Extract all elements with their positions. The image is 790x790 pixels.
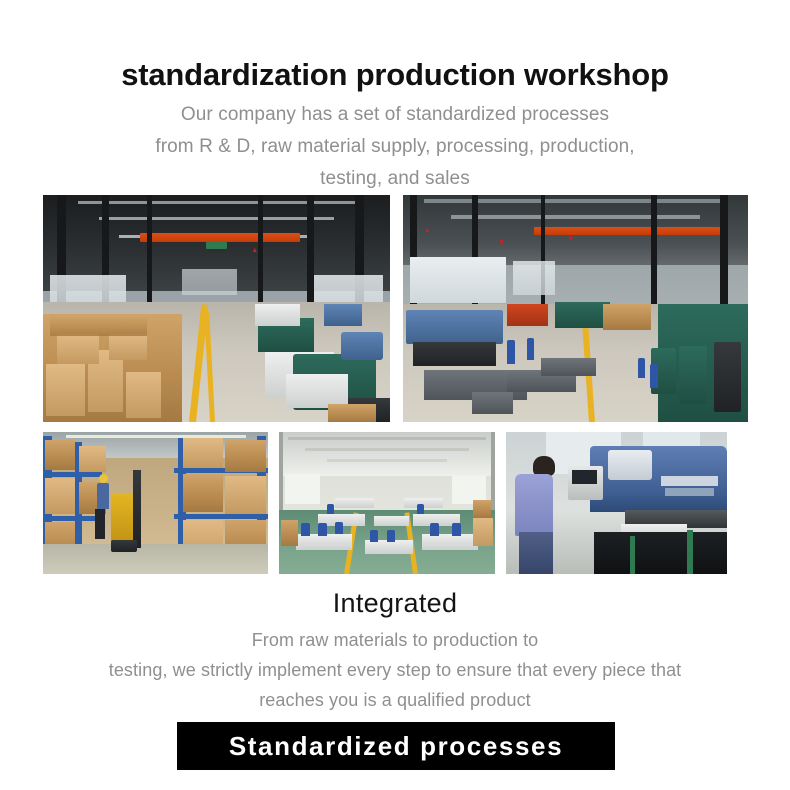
- header-section: standardization production workshop Our …: [0, 55, 790, 195]
- injection-molding-workshop-photo: ▲: [43, 195, 390, 422]
- footer-title: Integrated: [0, 585, 790, 621]
- banner-label: Standardized processes: [229, 733, 563, 759]
- header-subtitle-line-3: testing, and sales: [0, 163, 790, 195]
- footer-line-3: reaches you is a qualified product: [0, 685, 790, 715]
- warehouse-forklift-photo: [43, 432, 268, 574]
- photo-gallery-row-2: [43, 432, 748, 574]
- photo-scene: [279, 432, 495, 574]
- promo-page: standardization production workshop Our …: [0, 0, 790, 790]
- metal-fabrication-workshop-photo: ▲ ■ ■: [403, 195, 748, 422]
- footer-line-1: From raw materials to production to: [0, 625, 790, 655]
- footer-section: Integrated From raw materials to product…: [0, 585, 790, 715]
- header-subtitle-line-1: Our company has a set of standardized pr…: [0, 99, 790, 131]
- page-title: standardization production workshop: [0, 55, 790, 95]
- footer-line-2: testing, we strictly implement every ste…: [0, 655, 790, 685]
- header-subtitle-line-2: from R & D, raw material supply, process…: [0, 131, 790, 163]
- footer-text-block: From raw materials to production to test…: [0, 625, 790, 715]
- photo-scene: ▲ ■ ■: [403, 195, 748, 422]
- cnc-punching-machine-photo: [506, 432, 727, 574]
- photo-scene: [506, 432, 727, 574]
- photo-gallery-row-1: ▲: [43, 195, 748, 422]
- assembly-line-photo: [279, 432, 495, 574]
- photo-scene: [43, 432, 268, 574]
- standardized-processes-banner: Standardized processes: [177, 722, 615, 770]
- header-subtitle-block: Our company has a set of standardized pr…: [0, 99, 790, 195]
- photo-scene: ▲: [43, 195, 390, 422]
